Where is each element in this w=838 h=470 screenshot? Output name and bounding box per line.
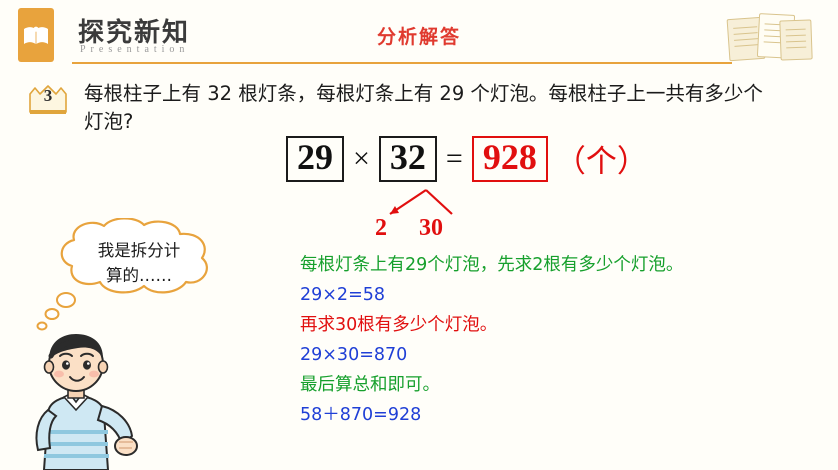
slide-root: 探究新知 Presentation 分析解答 3 每根柱子上有 32 根 [0, 0, 838, 470]
thought-bubble-line2: 算的…… [44, 263, 234, 288]
explanation-line: 再求30根有多少个灯泡。 [300, 310, 830, 340]
multiply-operator: × [351, 142, 372, 176]
thought-bubble: 我是拆分计 算的…… [44, 218, 234, 296]
explanation-line: 每根灯条上有29个灯泡，先求2根有多少个灯泡。 [300, 250, 830, 280]
explanation-line: 29×30=870 [300, 340, 830, 370]
explanation-list: 每根灯条上有29个灯泡，先求2根有多少个灯泡。 29×2=58 再求30根有多少… [300, 250, 830, 430]
split-factor-left: 2 [375, 215, 387, 242]
header-divider [72, 62, 732, 64]
explanation-line: 最后算总和即可。 [300, 370, 830, 400]
thought-bubble-text: 我是拆分计 算的…… [44, 238, 234, 288]
paper-stack-icon [728, 12, 812, 62]
section-label: 分析解答 [0, 22, 838, 49]
equals-operator: = [444, 142, 465, 176]
split-factor-right: 30 [419, 215, 443, 242]
factor-two-box: 32 [379, 136, 437, 182]
question-text: 每根柱子上有 32 根灯条，每根灯条上有 29 个灯泡。每根柱子上一共有多少个灯… [84, 80, 764, 136]
question-number-badge: 3 [26, 82, 70, 122]
boy-student-illustration [18, 322, 144, 470]
equation-row: 29 × 32 = 928 （个） [286, 136, 648, 182]
product-box: 928 [472, 136, 548, 182]
explanation-line: 29×2=58 [300, 280, 830, 310]
factor-one-box: 29 [286, 136, 344, 182]
slide-header: 探究新知 Presentation 分析解答 [0, 0, 838, 68]
explanation-line: 58＋870=928 [300, 400, 830, 430]
product-unit: （个） [555, 136, 648, 181]
split-branch-icon [368, 188, 478, 218]
paper-sheet [779, 19, 812, 60]
thought-bubble-line1: 我是拆分计 [44, 238, 234, 263]
question-number: 3 [26, 86, 70, 106]
